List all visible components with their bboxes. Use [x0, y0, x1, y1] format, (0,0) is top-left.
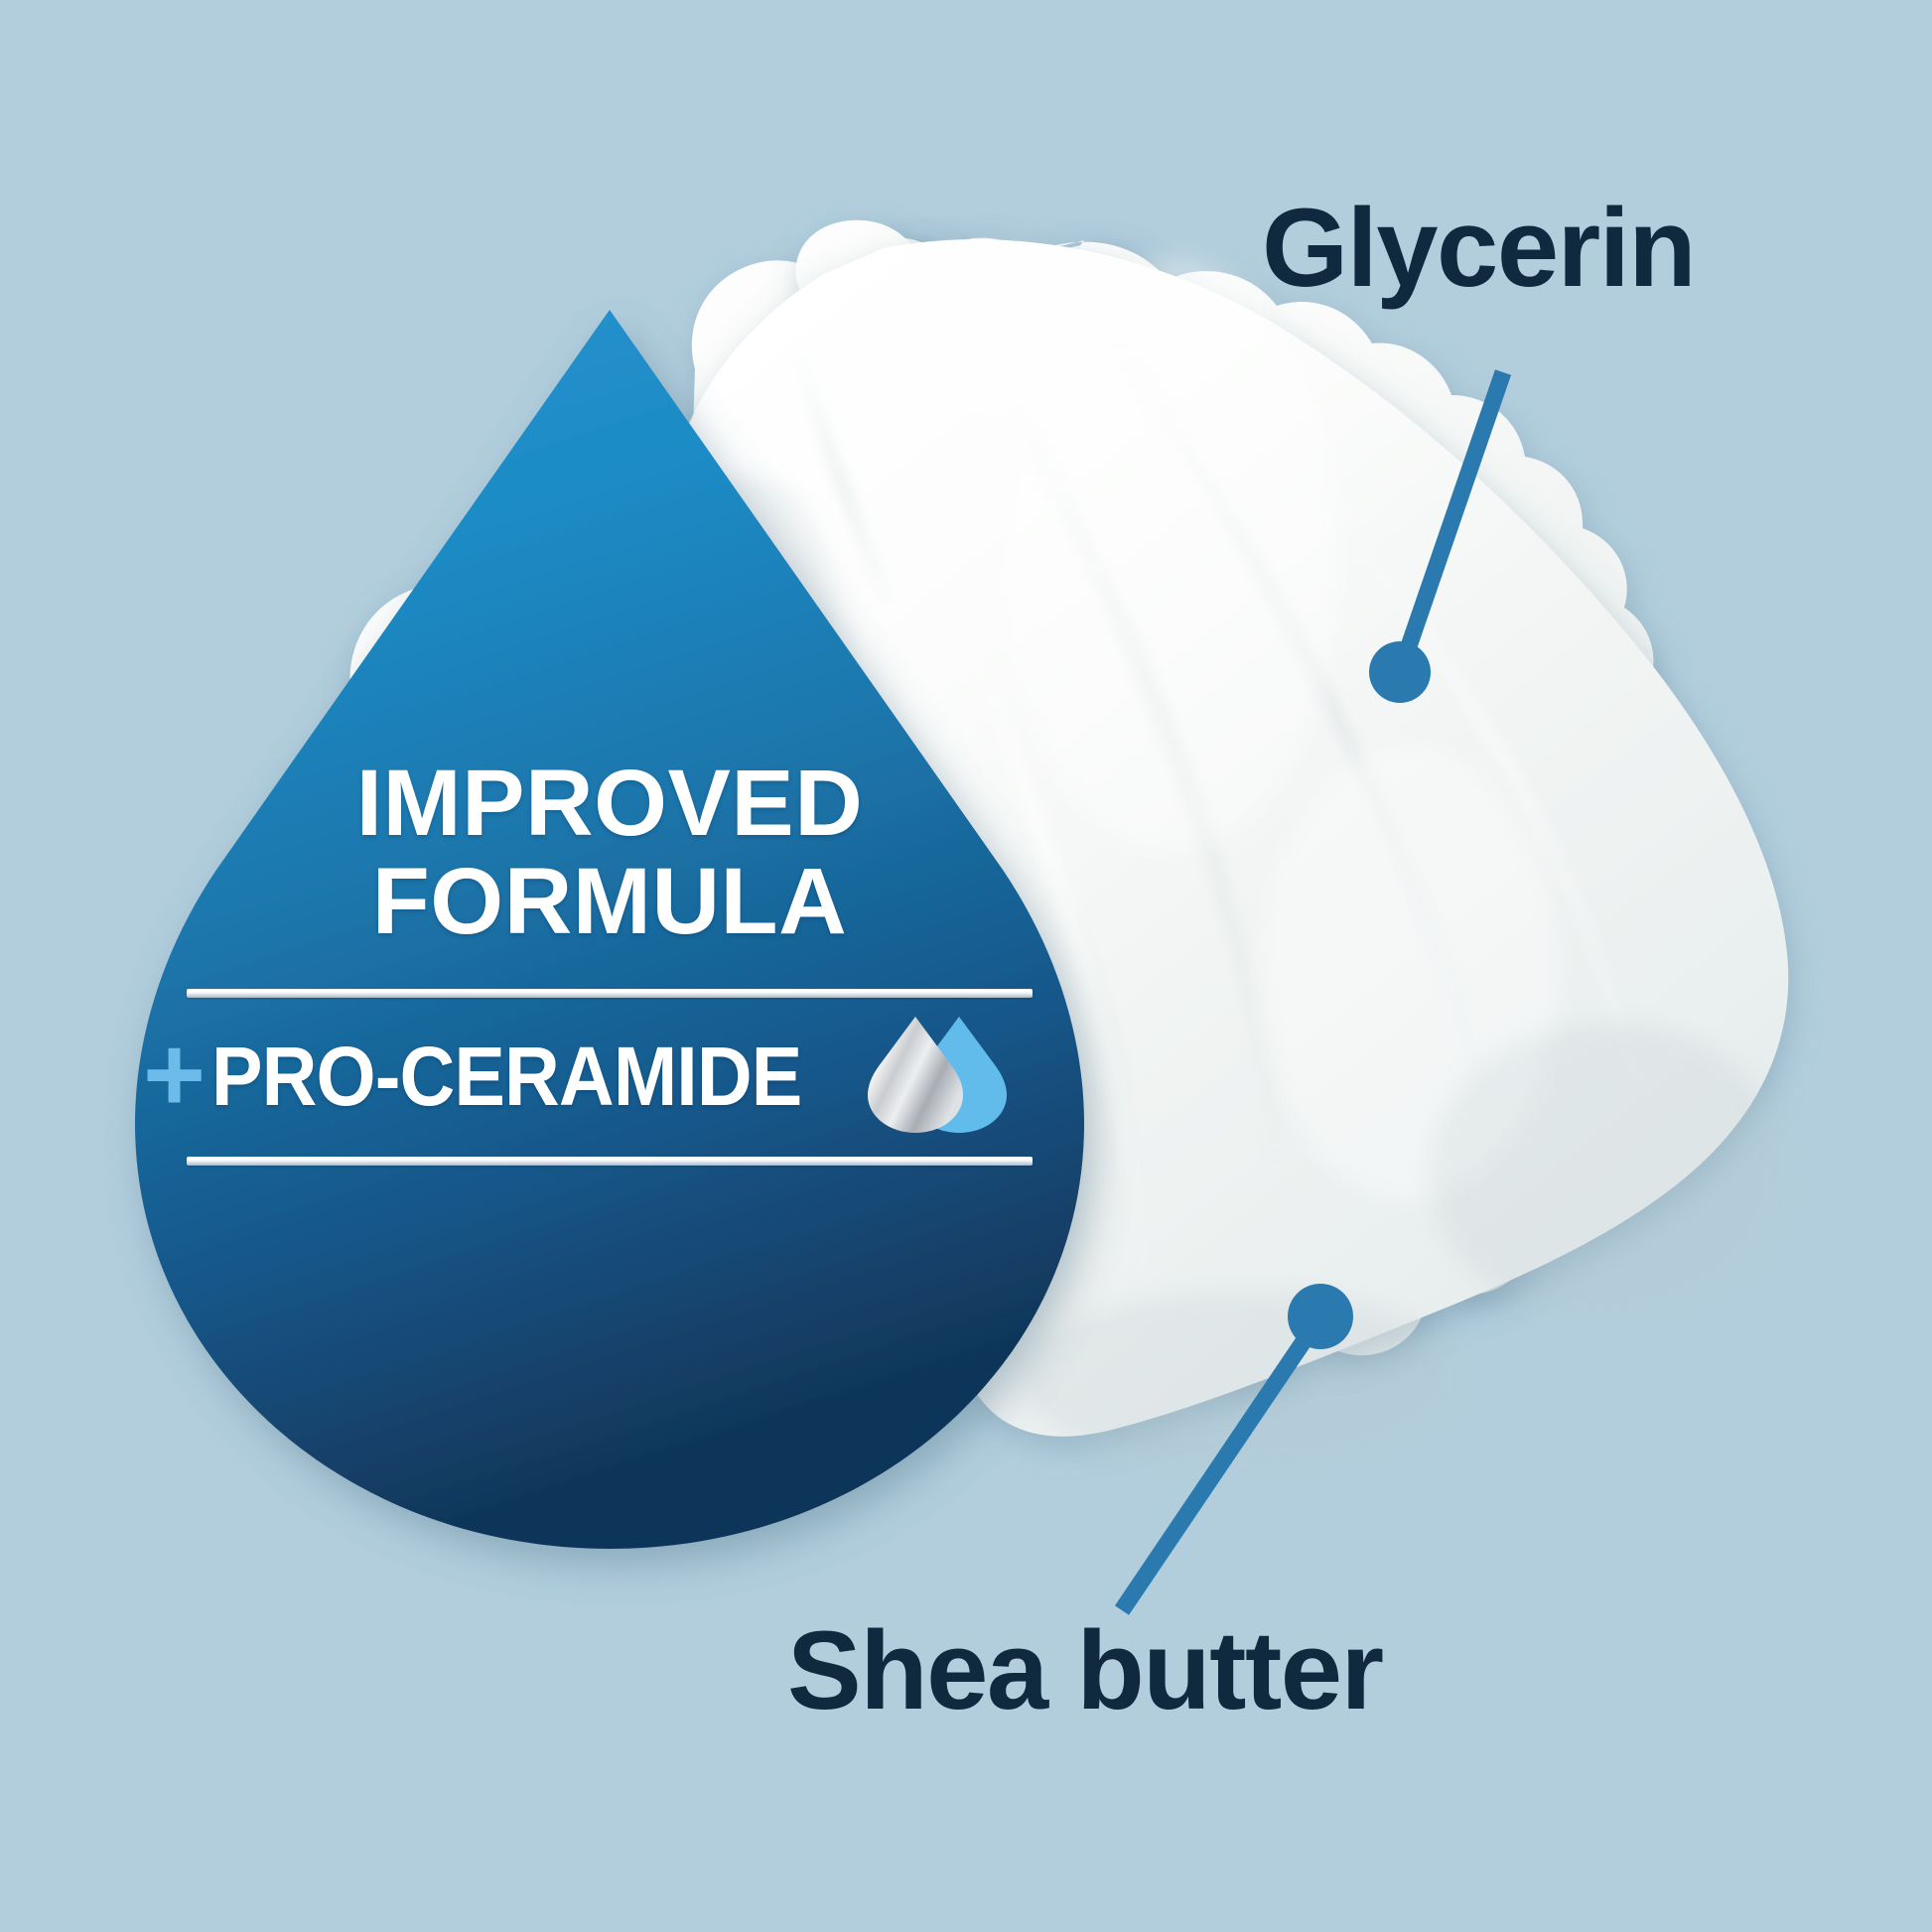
callout-dot-glycerin[interactable] [1369, 641, 1431, 703]
callout-label-shea-butter: Shea butter [787, 1606, 1383, 1734]
leader-line-glycerin [1400, 372, 1503, 672]
callout-dot-shea-butter[interactable] [1288, 1284, 1353, 1349]
leader-line-shea-butter [1122, 1316, 1320, 1610]
callout-marker-shea-butter[interactable] [1122, 1284, 1353, 1610]
product-ingredient-infographic: IMPROVED FORMULA + PRO-CERAMIDE [0, 0, 1932, 1932]
callout-label-glycerin: Glycerin [1262, 184, 1695, 312]
callout-marker-glycerin[interactable] [1369, 372, 1503, 703]
